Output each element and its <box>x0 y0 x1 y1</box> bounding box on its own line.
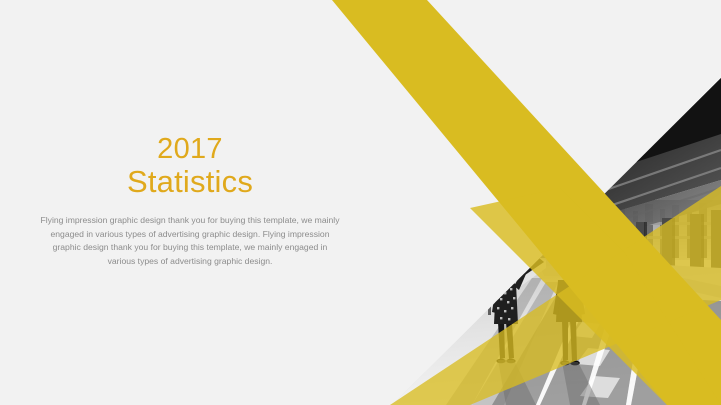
slide-title-year: 2017 <box>30 132 350 166</box>
slide-text-block: 2017 Statistics Flying impression graphi… <box>30 132 350 268</box>
walkway-photo <box>386 72 721 405</box>
slide-title-subject: Statistics <box>30 164 350 200</box>
slide-body-paragraph: Flying impression graphic design thank y… <box>30 214 350 268</box>
presentation-slide: 2017 Statistics Flying impression graphi… <box>0 0 721 405</box>
